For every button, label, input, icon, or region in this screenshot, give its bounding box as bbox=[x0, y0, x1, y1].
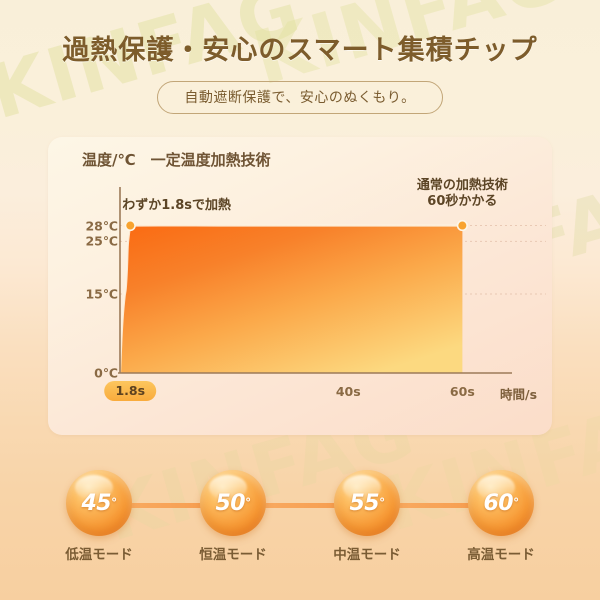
annotation-normal-line1: 通常の加熱技術 bbox=[417, 178, 508, 193]
mode-value-number: 60 bbox=[483, 491, 513, 516]
mode-item-45[interactable]: 45°低温モード bbox=[60, 470, 138, 563]
x-tick-40s: 40s bbox=[336, 384, 361, 399]
mode-temperature-value: 45° bbox=[66, 470, 132, 536]
mode-connector-line bbox=[127, 503, 203, 508]
header: 過熱保護・安心のスマート集積チップ 自動遮断保護で、安心のぬくもり。 bbox=[0, 0, 600, 114]
mode-label: 中温モード bbox=[328, 543, 406, 563]
x-axis-title: 時間/s bbox=[500, 384, 537, 403]
annotation-fast-heating: わずか1.8sで加熱 bbox=[122, 198, 231, 214]
mode-label: 高温モード bbox=[462, 543, 540, 563]
mode-item-60[interactable]: 60°高温モード bbox=[462, 470, 540, 563]
subtitle-row: 自動遮断保護で、安心のぬくもり。 bbox=[0, 81, 600, 114]
annotation-normal-heating: 通常の加熱技術 60秒かかる bbox=[396, 178, 528, 211]
mode-value-degree-symbol: ° bbox=[513, 496, 519, 510]
y-tick-28℃: 28℃ bbox=[85, 218, 118, 233]
chart-panel: 温度/℃ 一定温度加熱技術 28℃25℃15℃0℃ 1.8s40s60s 時間/… bbox=[48, 137, 552, 435]
mode-value-degree-symbol: ° bbox=[245, 496, 251, 510]
mode-value-number: 55 bbox=[349, 491, 379, 516]
mode-value-number: 45 bbox=[81, 491, 111, 516]
mode-connector-line bbox=[395, 503, 471, 508]
mode-temperature-badge: 50° bbox=[200, 470, 266, 536]
y-tick-15℃: 15℃ bbox=[85, 287, 118, 302]
mode-temperature-badge: 60° bbox=[468, 470, 534, 536]
mode-temperature-badge: 45° bbox=[66, 470, 132, 536]
mode-value-degree-symbol: ° bbox=[111, 496, 117, 510]
mode-connector-line bbox=[261, 503, 337, 508]
mode-item-50[interactable]: 50°恒温モード bbox=[194, 470, 272, 563]
mode-label: 恒温モード bbox=[194, 543, 272, 563]
x-tick-1.8s[interactable]: 1.8s bbox=[104, 381, 156, 401]
page-title: 過熱保護・安心のスマート集積チップ bbox=[0, 28, 600, 67]
product-infographic: KINFAG KINFAG KINFAG KINFAG KINFAG KINFA… bbox=[0, 0, 600, 600]
y-tick-25℃: 25℃ bbox=[85, 234, 118, 249]
y-tick-0℃: 0℃ bbox=[94, 366, 118, 381]
mode-value-degree-symbol: ° bbox=[379, 496, 385, 510]
annotation-normal-line2: 60秒かかる bbox=[427, 194, 497, 209]
mode-temperature-value: 55° bbox=[334, 470, 400, 536]
mode-item-55[interactable]: 55°中温モード bbox=[328, 470, 406, 563]
mode-temperature-value: 60° bbox=[468, 470, 534, 536]
mode-label: 低温モード bbox=[60, 543, 138, 563]
mode-temperature-badge: 55° bbox=[334, 470, 400, 536]
mode-temperature-value: 50° bbox=[200, 470, 266, 536]
mode-value-number: 50 bbox=[215, 491, 245, 516]
x-tick-60s: 60s bbox=[450, 384, 475, 399]
subtitle-badge: 自動遮断保護で、安心のぬくもり。 bbox=[157, 81, 442, 114]
mode-row: 45°低温モード50°恒温モード55°中温モード60°高温モード bbox=[0, 470, 600, 580]
